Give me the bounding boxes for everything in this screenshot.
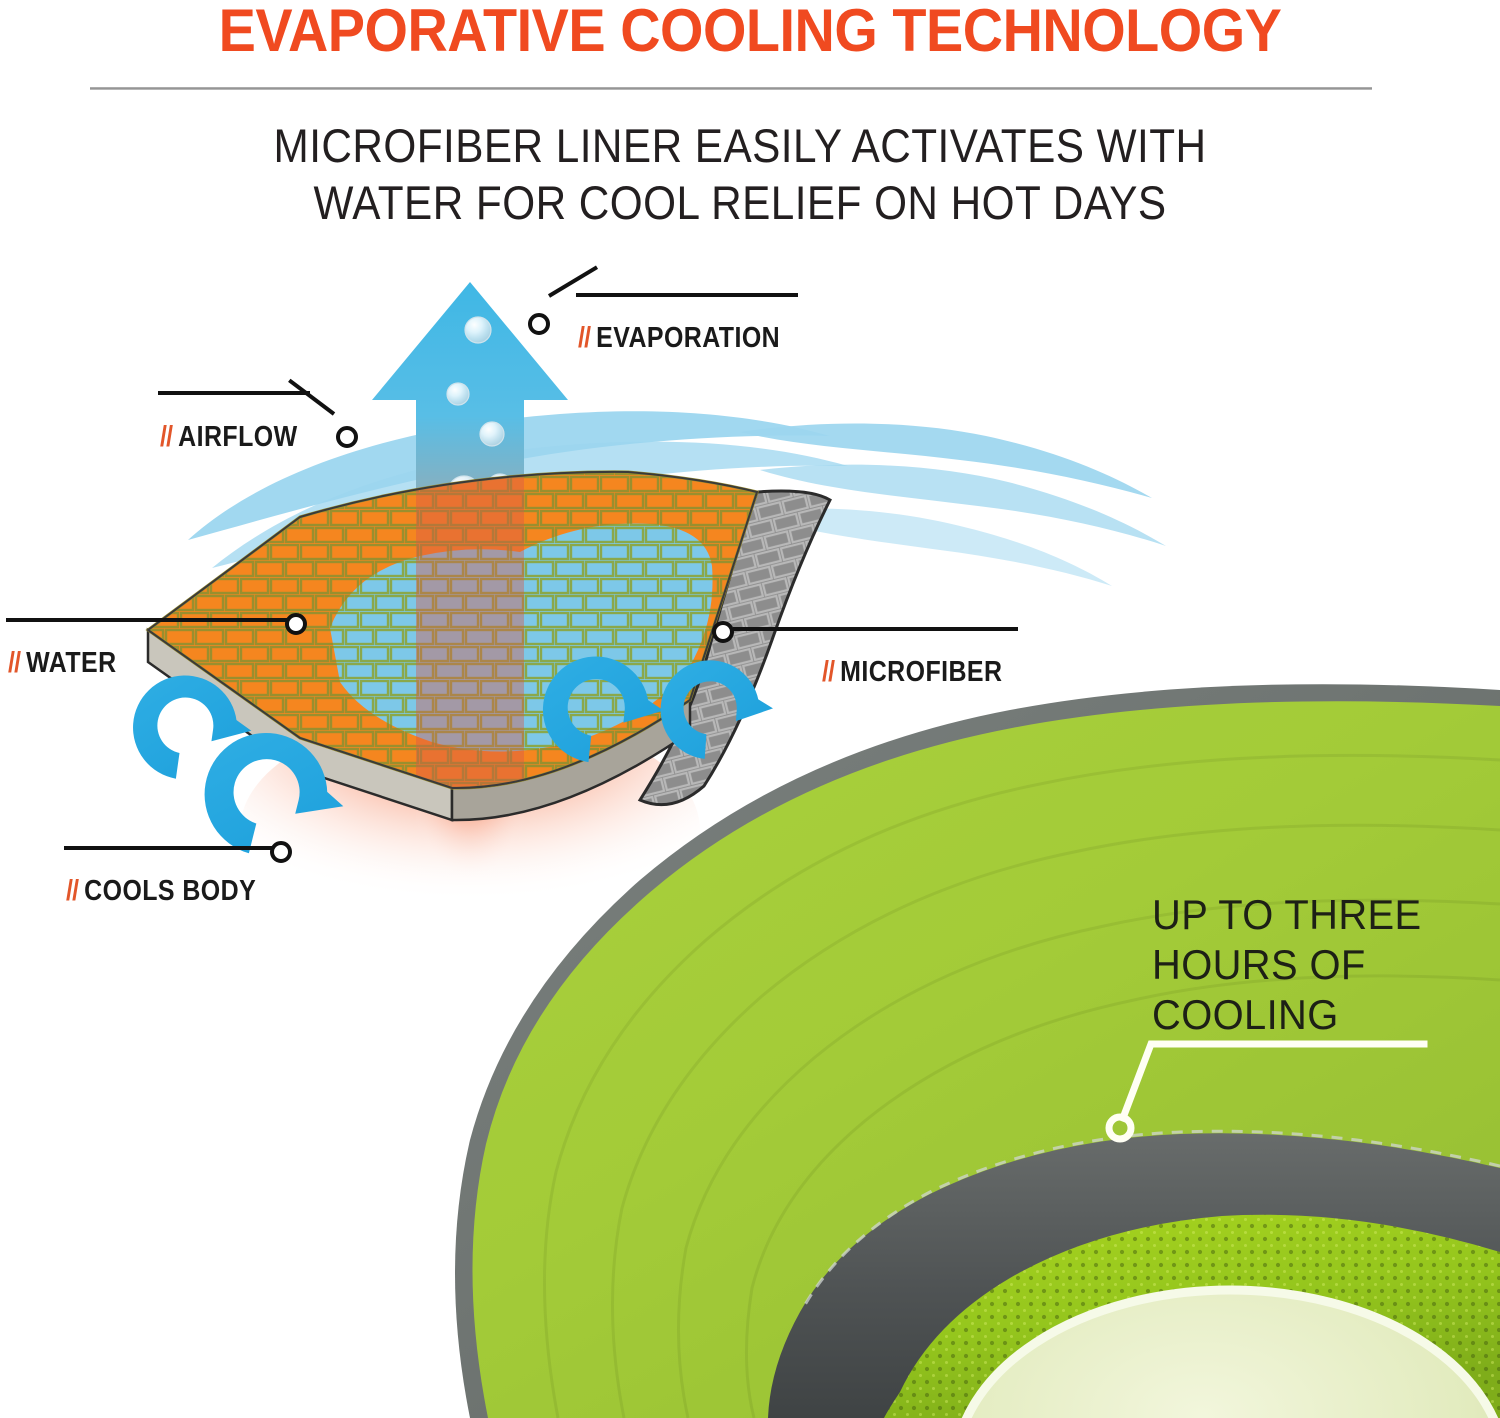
water-label: //WATER	[8, 647, 117, 680]
airflow-label-text: AIRFLOW	[178, 421, 297, 453]
product-callout-line-2: HOURS OF	[1152, 940, 1466, 990]
infographic-canvas: EVAPORATIVE COOLING TECHNOLOGY MICROFIBE…	[0, 0, 1500, 1418]
cools-body-label-text: COOLS BODY	[84, 875, 256, 907]
product-callout-text: UP TO THREE HOURS OF COOLING	[1152, 890, 1466, 1040]
evaporation-label: //EVAPORATION	[578, 322, 780, 355]
water-leader-horizontal	[6, 618, 289, 622]
slash-marker: //	[822, 656, 834, 688]
microfiber-anchor-dot	[712, 621, 734, 643]
illustration-layer	[0, 0, 1500, 1418]
evaporation-leader-horizontal	[576, 293, 798, 297]
evaporation-label-text: EVAPORATION	[596, 322, 780, 354]
water-label-text: WATER	[26, 647, 116, 679]
slash-marker: //	[160, 421, 172, 453]
cools-body-label: //COOLS BODY	[66, 875, 256, 908]
airflow-label: //AIRFLOW	[160, 421, 298, 454]
microfiber-leader-horizontal	[733, 627, 1018, 631]
cools-body-anchor-dot	[270, 841, 292, 863]
product-callout-line-3: COOLING	[1152, 990, 1466, 1040]
slash-marker: //	[8, 647, 20, 679]
product-callout-line-1: UP TO THREE	[1152, 890, 1466, 940]
water-anchor-dot	[285, 613, 307, 635]
slash-marker: //	[578, 322, 590, 354]
microfiber-label-text: MICROFIBER	[840, 656, 1002, 688]
airflow-leader-horizontal	[158, 391, 310, 395]
cools-body-leader-horizontal	[64, 846, 274, 850]
airflow-anchor-dot	[336, 426, 358, 448]
slash-marker: //	[66, 875, 78, 907]
evaporation-anchor-dot	[528, 313, 550, 335]
microfiber-label: //MICROFIBER	[822, 656, 1002, 689]
